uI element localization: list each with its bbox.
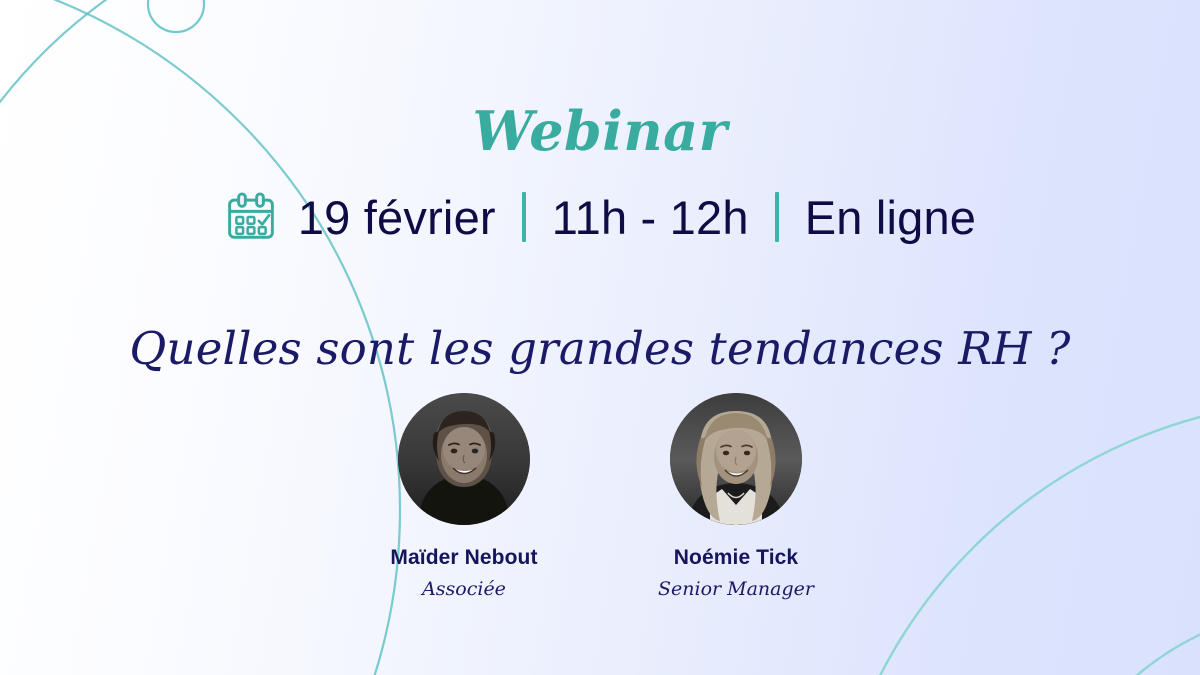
- speaker-card: Noémie Tick Senior Manager: [626, 393, 846, 601]
- speaker-card: Maïder Nebout Associée: [354, 393, 574, 601]
- meta-separator-1: [522, 192, 526, 242]
- event-meta-row: 19 février 11h - 12h En ligne: [0, 190, 1200, 244]
- event-location: En ligne: [805, 194, 976, 241]
- event-time: 11h - 12h: [552, 194, 749, 241]
- avatar: [670, 393, 802, 525]
- speaker-name: Maïder Nebout: [390, 545, 537, 570]
- webinar-kicker: Webinar: [0, 104, 1200, 158]
- speaker-name: Noémie Tick: [674, 545, 798, 570]
- deco-short-arc-topleft: [0, 0, 120, 115]
- calendar-check-icon: [224, 190, 278, 244]
- meta-separator-2: [775, 192, 779, 242]
- page-title: Quelles sont les grandes tendances RH ?: [0, 324, 1200, 374]
- webinar-poster: Webinar 19 février 11h - 12h En ligne Qu…: [0, 0, 1200, 675]
- speakers-list: Maïder Nebout Associée: [0, 393, 1200, 601]
- deco-small-circle: [148, 0, 204, 32]
- avatar: [398, 393, 530, 525]
- event-date: 19 février: [298, 194, 496, 241]
- deco-arc-bottomright-inner: [1030, 605, 1200, 675]
- speaker-role: Associée: [422, 578, 506, 601]
- speaker-role: Senior Manager: [658, 578, 814, 601]
